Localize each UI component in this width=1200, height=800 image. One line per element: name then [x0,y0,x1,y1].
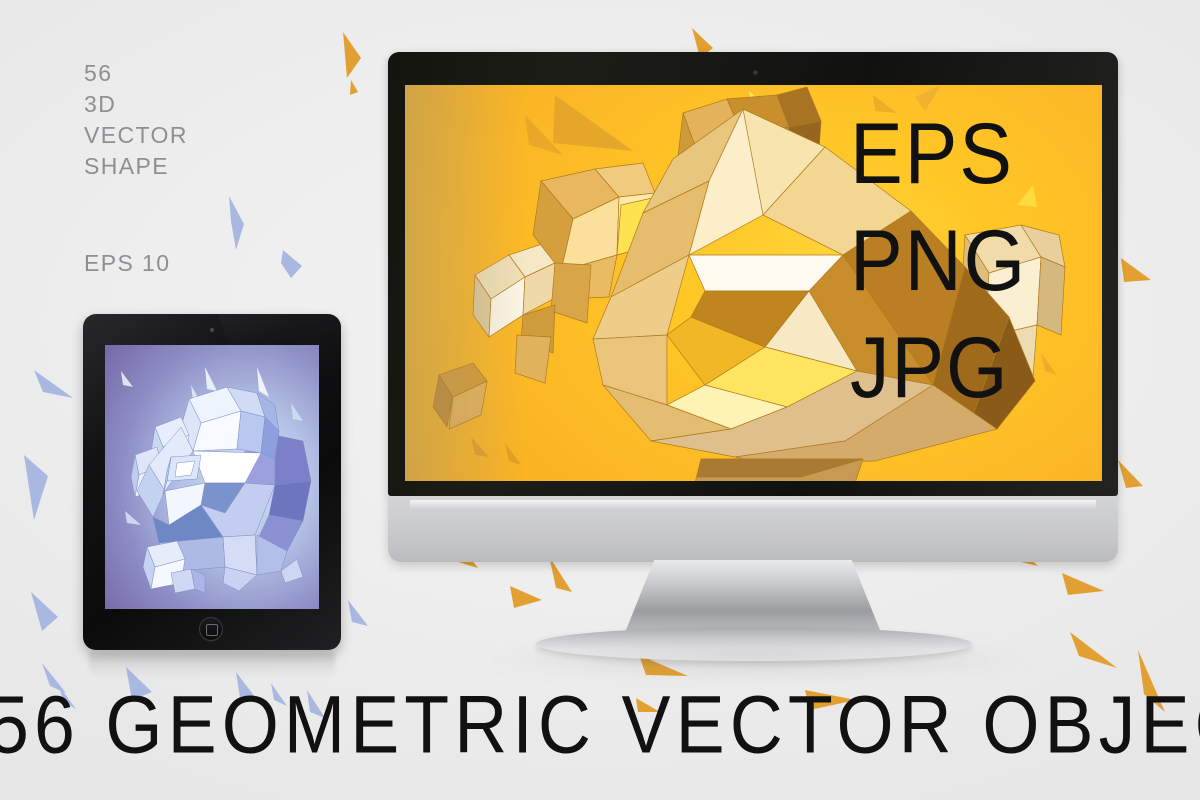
format-list: EPS PNG JPG [850,101,1062,422]
tablet-camera-icon [210,328,214,332]
eps-version-label: EPS 10 [84,250,170,277]
spec-text-block: 56 3D VECTOR SHAPE [84,58,314,182]
spec-line-vector: VECTOR [84,120,314,151]
format-eps: EPS [850,101,1062,208]
spec-line-dimension: 3D [84,89,314,120]
monitor-bezel: EPS PNG JPG [388,52,1118,496]
monitor-drop-shadow [478,644,1038,674]
monitor-chin [388,496,1118,562]
tablet-mockup [83,314,341,654]
spec-line-count: 56 [84,58,314,89]
blue-crystal-artwork [105,345,319,609]
spec-line-shape: SHAPE [84,151,314,182]
tablet-screen [105,345,319,609]
desktop-monitor-mockup: EPS PNG JPG [388,52,1118,652]
monitor-screen: EPS PNG JPG [405,85,1102,481]
tablet-home-button[interactable] [199,617,223,641]
tablet-bezel [83,314,341,650]
format-jpg: JPG [850,315,1062,422]
monitor-camera-icon [753,70,758,75]
poster-canvas: 56 3D VECTOR SHAPE EPS 10 [0,0,1200,800]
tablet-reflection [89,652,335,678]
format-png: PNG [850,208,1062,315]
page-title: 56 GEOMETRIC VECTOR OBJECTS [0,678,1200,771]
